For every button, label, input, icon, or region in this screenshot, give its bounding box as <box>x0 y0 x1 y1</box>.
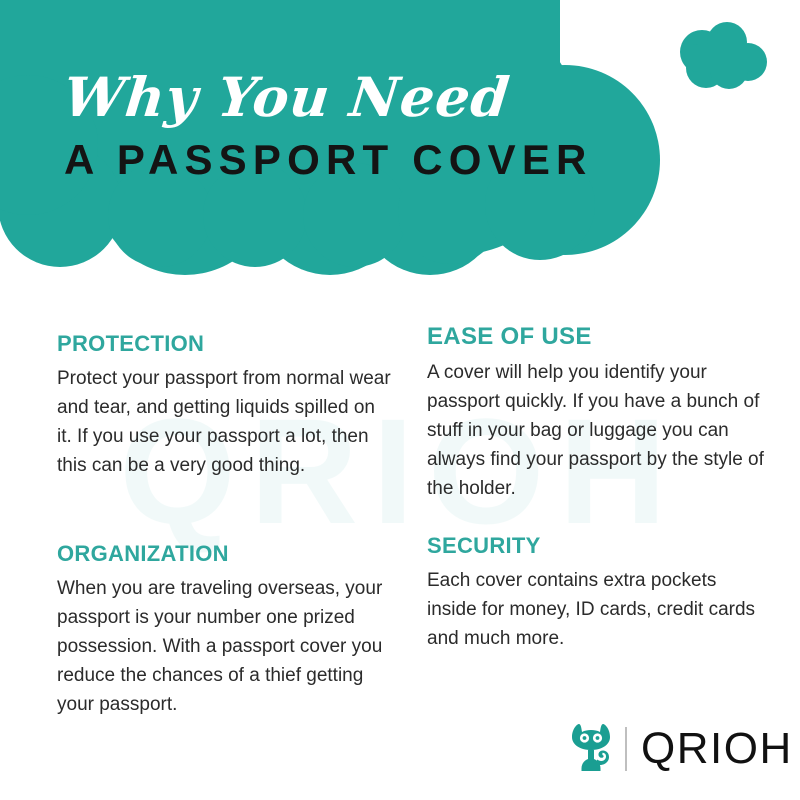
cloud-small-graphic <box>680 22 767 89</box>
section-heading-security: SECURITY <box>427 534 767 558</box>
section-organization: ORGANIZATION When you are traveling over… <box>57 542 392 720</box>
section-security: SECURITY Each cover contains extra pocke… <box>427 534 767 654</box>
section-heading-protection: PROTECTION <box>57 332 392 356</box>
logo-divider <box>625 727 627 771</box>
section-heading-ease-of-use: EASE OF USE <box>427 324 767 350</box>
section-body-security: Each cover contains extra pockets inside… <box>427 567 767 654</box>
brand-wordmark: QRIOH <box>641 727 793 771</box>
section-body-organization: When you are traveling overseas, your pa… <box>57 575 392 719</box>
section-ease-of-use: EASE OF USE A cover will help you identi… <box>427 324 767 504</box>
section-body-protection: Protect your passport from normal wear a… <box>57 365 392 481</box>
brand-logo: QRIOH <box>565 718 793 780</box>
infographic-page: QRIOH <box>0 0 800 800</box>
section-heading-organization: ORGANIZATION <box>57 542 392 566</box>
cat-icon <box>565 721 617 777</box>
cloud-banner-graphic <box>0 0 800 280</box>
section-protection: PROTECTION Protect your passport from no… <box>57 332 392 481</box>
section-body-ease-of-use: A cover will help you identify your pass… <box>427 359 767 503</box>
